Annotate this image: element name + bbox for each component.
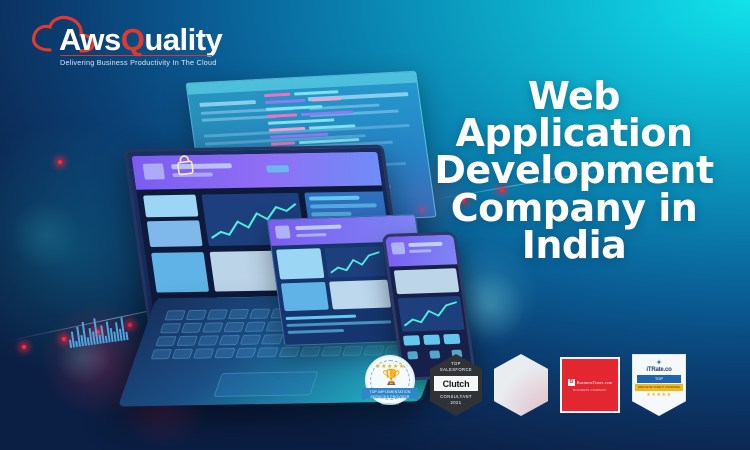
badge-subtitle: BUSINESS COMPANY [573, 388, 607, 392]
award-badges-row: ★★★★★ 🏆 TOP IMPLEMENTATION SERVICES PROV… [362, 352, 742, 418]
star-rating: ★★★★★ [633, 392, 685, 398]
lock-icon [175, 153, 196, 177]
light-spark [22, 345, 26, 349]
headline-line-4: Company in [414, 190, 734, 227]
itrate-wordmark: iTRate.co [633, 367, 685, 373]
bar-chart-icon [66, 314, 128, 348]
page-title: Web Application Development Company in I… [414, 78, 734, 264]
g2-crowd-top-salesforce-company-badge[interactable]: G2 CROWD TOP SALESFORCE COMPANY WINTER 2… [494, 354, 548, 416]
headline-line-3: Development [414, 152, 734, 189]
headline-line-5: India [414, 227, 734, 264]
trophy-icon: 🏆 [382, 370, 401, 385]
badge-top-line2: SALESFORCE [430, 367, 482, 373]
clutch-wordmark: Clutch [434, 376, 478, 391]
headline-line-2: Application [414, 115, 734, 152]
business-times-badge[interactable]: B BusinessTimes.com BUSINESS COMPANY [560, 357, 620, 413]
app-header-bar [131, 152, 382, 190]
clutch-top-salesforce-consultant-badge[interactable]: TOP SALESFORCE Clutch CONSULTANT 2021 [430, 354, 482, 416]
badge-label: TOP [637, 375, 681, 383]
itrate-top-badge[interactable]: ✦ iTRate.co TOP WEB DEVELOPMENT COMPANIE… [632, 354, 686, 416]
badge-bottom-line2: 2021 [430, 400, 482, 406]
laptop-trackpad [213, 371, 318, 397]
badge-source: goodfirms.co [362, 402, 418, 406]
top-implementation-services-provider-badge[interactable]: ★★★★★ 🏆 TOP IMPLEMENTATION SERVICES PROV… [362, 355, 418, 415]
line-chart-icon [400, 300, 462, 330]
line-chart-icon [327, 250, 385, 276]
business-times-wordmark: BusinessTimes.com [577, 380, 612, 385]
headline-line-1: Web [414, 78, 734, 115]
badge-subtitle: WEB DEVELOPMENT COMPANIES [635, 384, 683, 391]
business-times-mark: B [568, 379, 575, 386]
brand-name: AwsQuality [59, 24, 222, 55]
logo-divider [60, 55, 212, 56]
marketing-banner: AwsQuality Delivering Business Productiv… [0, 0, 750, 450]
star-badge-icon: ✦ [633, 359, 685, 367]
